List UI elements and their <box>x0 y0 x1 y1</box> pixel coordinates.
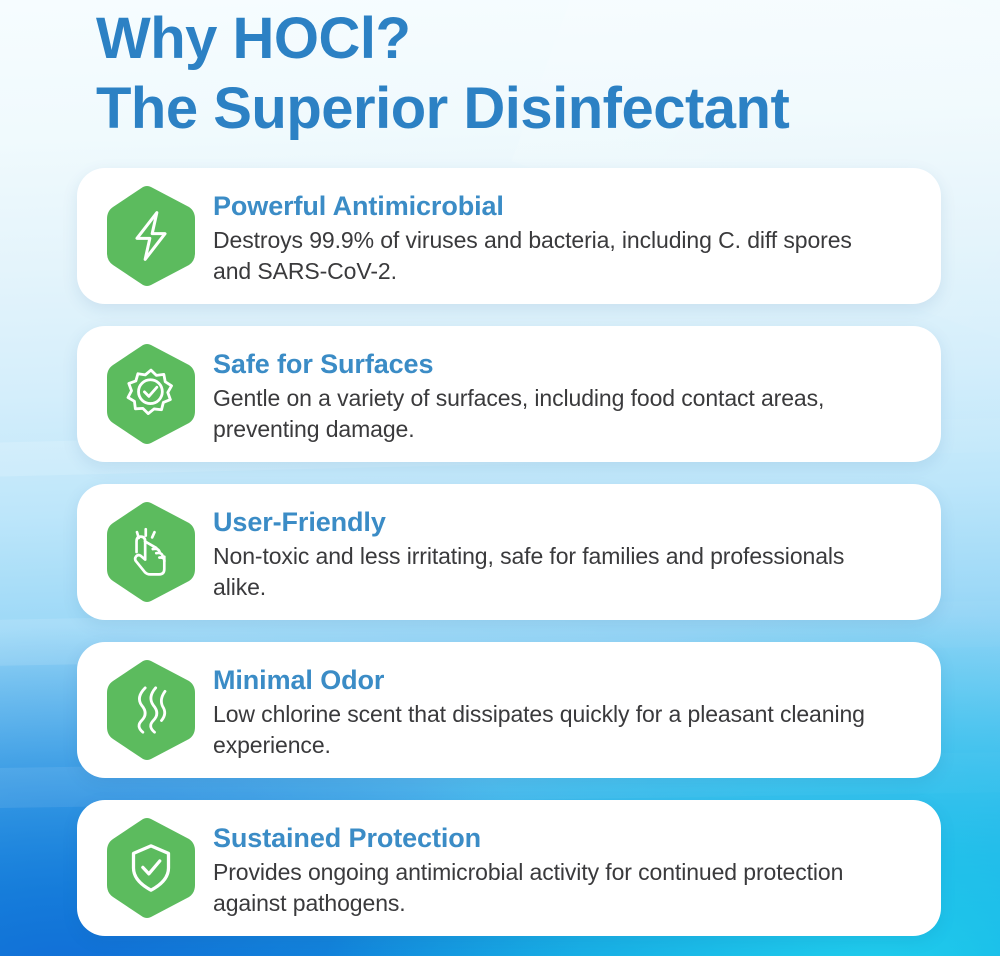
page-title: Why HOCl? The Superior Disinfectant <box>96 4 956 144</box>
feature-icon-container <box>101 342 201 446</box>
feature-title: Minimal Odor <box>213 662 915 698</box>
feature-description: Destroys 99.9% of viruses and bacteria, … <box>213 225 893 287</box>
feature-card: User-Friendly Non-toxic and less irritat… <box>77 484 941 620</box>
feature-text: User-Friendly Non-toxic and less irritat… <box>213 502 915 603</box>
feature-title: User-Friendly <box>213 504 915 540</box>
feature-icon-container <box>101 658 201 762</box>
hexagon-badge <box>103 185 199 287</box>
feature-description: Low chlorine scent that dissipates quick… <box>213 699 893 761</box>
feature-text: Sustained Protection Provides ongoing an… <box>213 818 915 919</box>
feature-card-list: Powerful Antimicrobial Destroys 99.9% of… <box>77 168 941 956</box>
feature-icon-container <box>101 816 201 920</box>
feature-icon-container <box>101 184 201 288</box>
scent-waves-icon <box>123 682 179 738</box>
feature-text: Powerful Antimicrobial Destroys 99.9% of… <box>213 186 915 287</box>
feature-description: Provides ongoing antimicrobial activity … <box>213 857 893 919</box>
feature-title: Powerful Antimicrobial <box>213 188 915 224</box>
page-title-line-1: Why HOCl? <box>96 4 956 74</box>
tapping-hand-icon <box>123 524 179 580</box>
feature-description: Gentle on a variety of surfaces, includi… <box>213 383 893 445</box>
feature-card: Minimal Odor Low chlorine scent that dis… <box>77 642 941 778</box>
feature-icon-container <box>101 500 201 604</box>
feature-card: Sustained Protection Provides ongoing an… <box>77 800 941 936</box>
hexagon-badge <box>103 343 199 445</box>
feature-card: Powerful Antimicrobial Destroys 99.9% of… <box>77 168 941 304</box>
lightning-bolt-icon <box>123 208 179 264</box>
page-title-line-2: The Superior Disinfectant <box>96 74 956 144</box>
badge-check-icon <box>123 366 179 422</box>
feature-title: Safe for Surfaces <box>213 346 915 382</box>
feature-title: Sustained Protection <box>213 820 915 856</box>
feature-card: Safe for Surfaces Gentle on a variety of… <box>77 326 941 462</box>
feature-text: Safe for Surfaces Gentle on a variety of… <box>213 344 915 445</box>
hexagon-badge <box>103 817 199 919</box>
feature-text: Minimal Odor Low chlorine scent that dis… <box>213 660 915 761</box>
hexagon-badge <box>103 659 199 761</box>
shield-check-icon <box>123 840 179 896</box>
hexagon-badge <box>103 501 199 603</box>
feature-description: Non-toxic and less irritating, safe for … <box>213 541 893 603</box>
infographic-poster: Why HOCl? The Superior Disinfectant <box>0 0 1000 956</box>
